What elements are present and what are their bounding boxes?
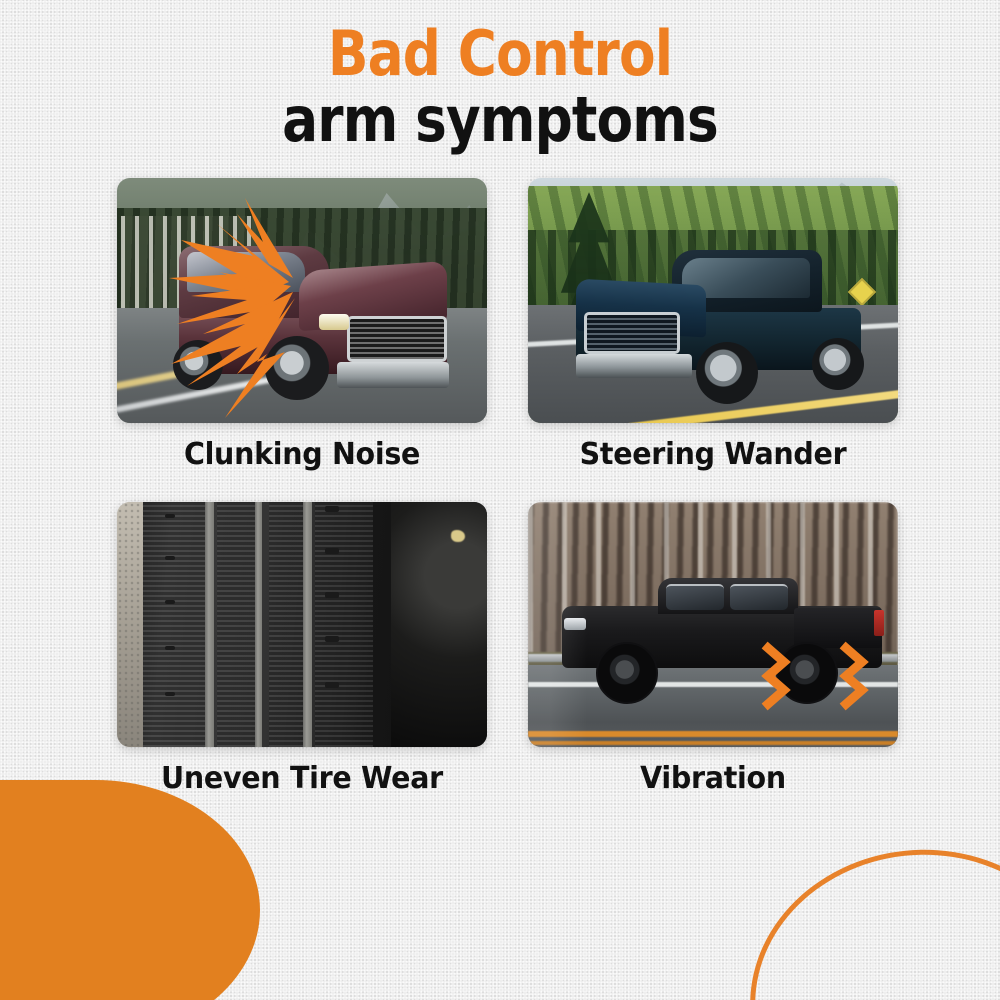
symptom-image-uneven-tire-wear <box>117 502 487 747</box>
title-line-secondary: arm symptoms <box>70 90 930 150</box>
worn-tire-tread <box>143 502 373 747</box>
symptom-caption-clunking-noise: Clunking Noise <box>126 437 478 472</box>
symptom-card-vibration[interactable]: Vibration <box>528 502 898 796</box>
symptom-card-steering-wander[interactable]: Steering Wander <box>528 178 898 472</box>
symptom-image-clunking-noise <box>117 178 487 423</box>
symptom-grid: Clunking Noise <box>117 178 898 796</box>
navy-pickup-truck <box>576 250 861 410</box>
page-title: Bad Control arm symptoms <box>0 24 1000 149</box>
symptom-card-clunking-noise[interactable]: Clunking Noise <box>117 178 487 472</box>
symptom-card-uneven-tire-wear[interactable]: Uneven Tire Wear <box>117 502 487 796</box>
symptom-caption-vibration: Vibration <box>537 761 889 796</box>
symptom-image-vibration <box>528 502 898 747</box>
symptom-caption-uneven-tire-wear: Uneven Tire Wear <box>126 761 478 796</box>
symptom-caption-steering-wander: Steering Wander <box>537 437 889 472</box>
poster-canvas: Bad Control arm symptoms <box>0 0 1000 1000</box>
maroon-pickup-truck <box>179 236 449 401</box>
title-line-primary: Bad Control <box>70 24 930 84</box>
symptom-image-steering-wander <box>528 178 898 423</box>
black-pickup-truck <box>562 578 882 698</box>
